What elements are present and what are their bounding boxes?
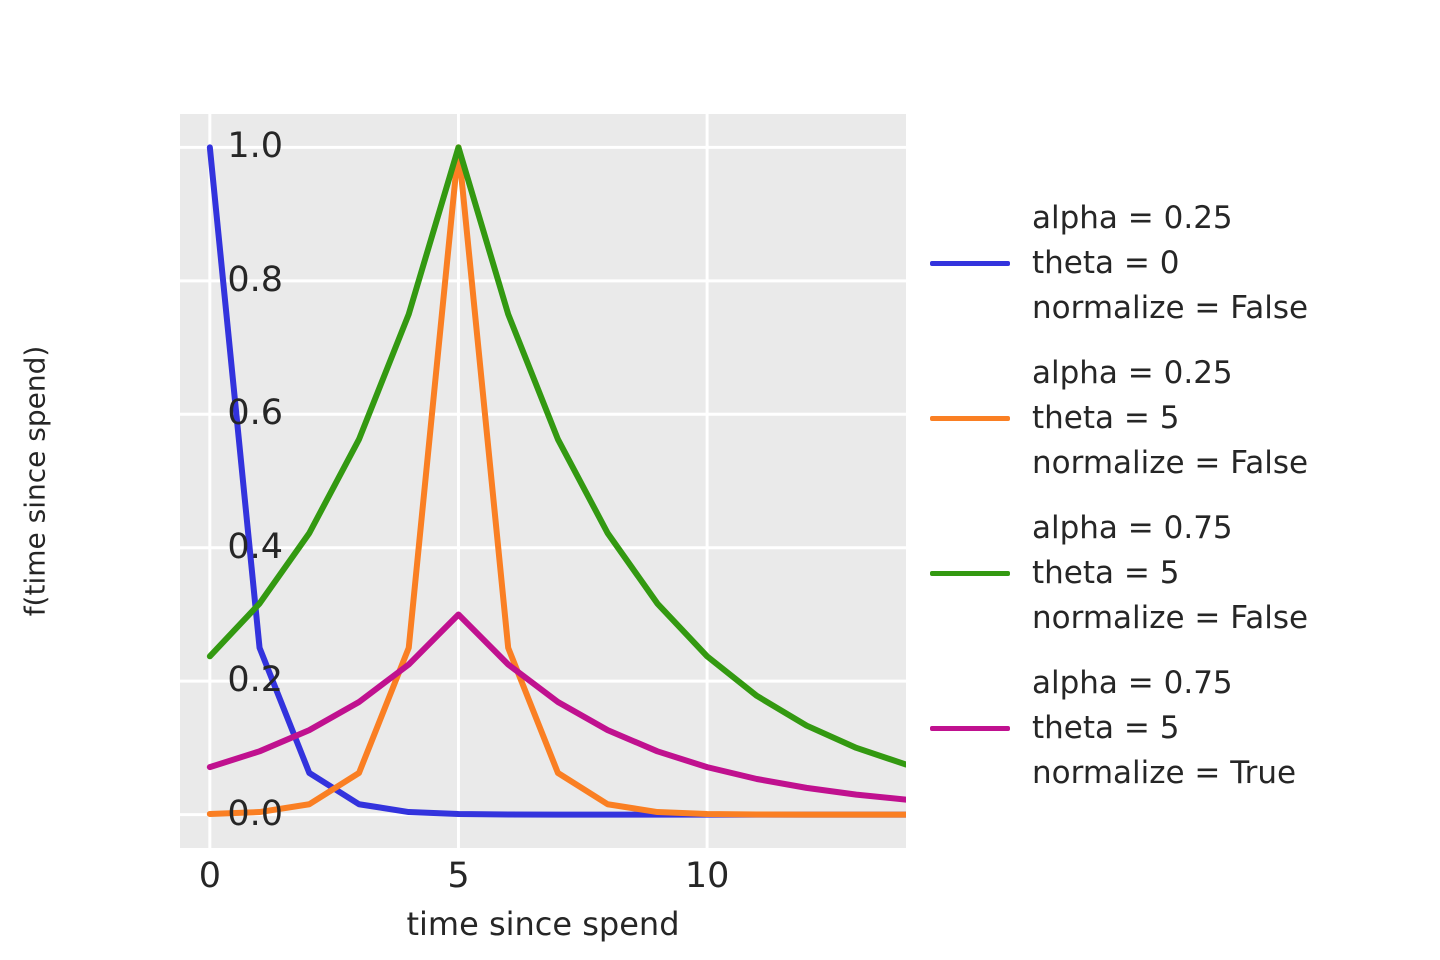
legend-entry[interactable]: alpha = 0.75theta = 5normalize = True — [930, 661, 1430, 796]
legend-label-line-3: normalize = False — [1032, 286, 1308, 331]
y-tick-label: 0.6 — [163, 396, 283, 431]
series-line-1 — [210, 147, 906, 814]
legend-label-line-1: alpha = 0.75 — [1032, 506, 1308, 551]
legend-entry[interactable]: alpha = 0.25theta = 0normalize = False — [930, 196, 1430, 331]
y-tick-label: 0.4 — [163, 530, 283, 565]
legend-label: alpha = 0.25theta = 5normalize = False — [1032, 351, 1308, 486]
x-axis-label: time since spend — [180, 905, 906, 943]
y-axis-label-container: f(time since spend) — [0, 114, 70, 848]
chart-figure: 1.00.80.60.40.20.0 0510 time since spend… — [0, 0, 1440, 960]
plot-area — [180, 114, 906, 848]
legend-label-line-3: normalize = False — [1032, 441, 1308, 486]
x-tick-label: 0 — [150, 855, 270, 897]
legend-color-swatch — [930, 726, 1010, 731]
legend-label-line-3: normalize = False — [1032, 596, 1308, 641]
legend-label-line-3: normalize = True — [1032, 751, 1296, 796]
x-tick-label: 5 — [398, 855, 518, 897]
legend-label: alpha = 0.75theta = 5normalize = False — [1032, 506, 1308, 641]
series-line-2 — [210, 147, 906, 764]
legend-color-swatch — [930, 571, 1010, 576]
y-tick-label: 0.0 — [163, 797, 283, 832]
y-axis-label: f(time since spend) — [19, 346, 52, 617]
series-line-0 — [210, 147, 906, 814]
legend-entry[interactable]: alpha = 0.25theta = 5normalize = False — [930, 351, 1430, 486]
legend-label-line-1: alpha = 0.25 — [1032, 196, 1308, 241]
legend: alpha = 0.25theta = 0normalize = Falseal… — [930, 196, 1430, 816]
x-tick-label: 10 — [647, 855, 767, 897]
legend-label-line-2: theta = 0 — [1032, 241, 1308, 286]
legend-label-line-2: theta = 5 — [1032, 396, 1308, 441]
y-tick-label: 0.8 — [163, 263, 283, 298]
y-tick-label: 0.2 — [163, 663, 283, 698]
legend-color-swatch — [930, 416, 1010, 421]
legend-label-line-1: alpha = 0.75 — [1032, 661, 1296, 706]
legend-label-line-1: alpha = 0.25 — [1032, 351, 1308, 396]
legend-label-line-2: theta = 5 — [1032, 551, 1308, 596]
plot-canvas — [180, 114, 906, 848]
y-tick-label: 1.0 — [163, 129, 283, 164]
legend-color-swatch — [930, 261, 1010, 266]
legend-entry[interactable]: alpha = 0.75theta = 5normalize = False — [930, 506, 1430, 641]
legend-label: alpha = 0.75theta = 5normalize = True — [1032, 661, 1296, 796]
legend-label: alpha = 0.25theta = 0normalize = False — [1032, 196, 1308, 331]
data-lines — [210, 147, 906, 814]
legend-label-line-2: theta = 5 — [1032, 706, 1296, 751]
